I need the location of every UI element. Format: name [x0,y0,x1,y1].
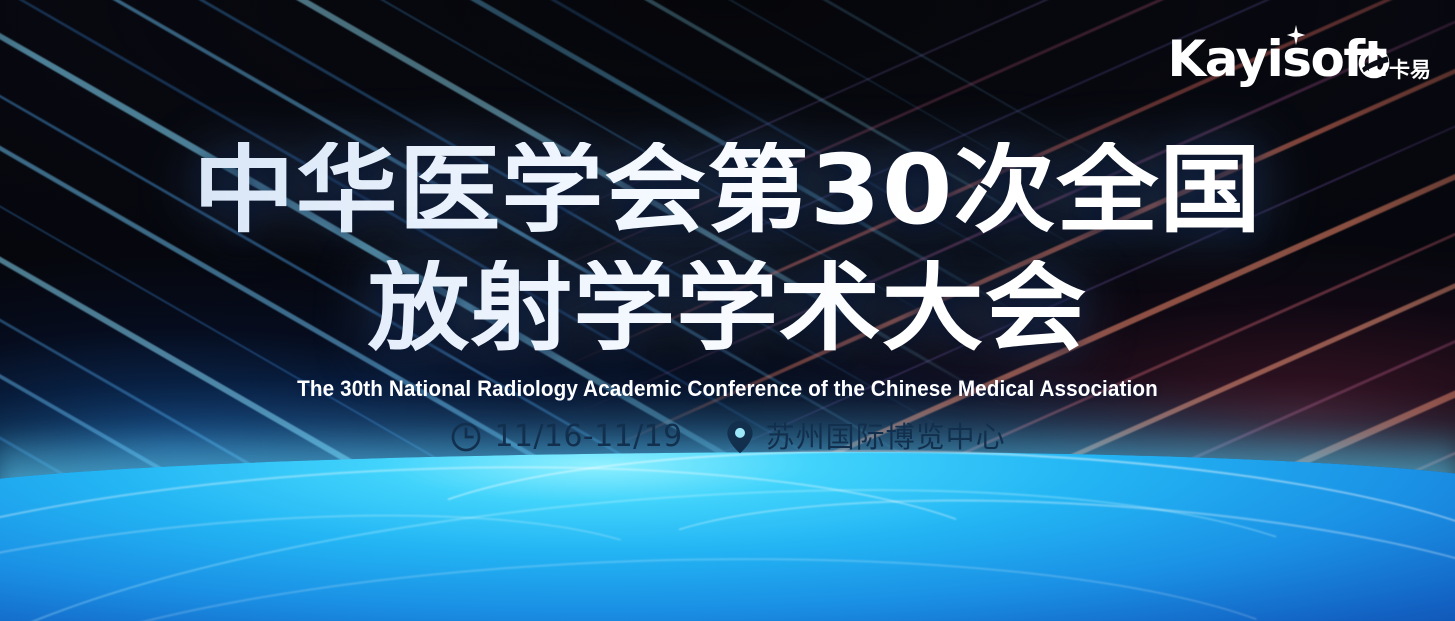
conference-banner: Kayisoft 卡易 中华医学会第30次全国 放射学学术大会 The 30th… [0,0,1455,621]
event-venue: 苏州国际博览中心 [725,420,1006,454]
brand-logo[interactable]: Kayisoft 卡易 [1168,34,1431,84]
clock-icon [449,420,483,454]
logo-wordmark: Kayisoft [1168,34,1386,84]
english-subtitle: The 30th National Radiology Academic Con… [58,376,1397,402]
map-pin-icon [725,420,755,454]
event-venue-text: 苏州国际博览中心 [766,423,1006,452]
logo-chinese-name: 卡易 [1389,60,1431,84]
title-line-2: 放射学学术大会 [0,260,1455,356]
event-meta-row: 11/16-11/19 苏州国际博览中心 [0,420,1455,454]
event-date-text: 11/16-11/19 [494,422,682,452]
title-line-1: 中华医学会第30次全国 [0,142,1455,238]
event-date: 11/16-11/19 [449,420,682,454]
ground-surface [0,452,1455,621]
